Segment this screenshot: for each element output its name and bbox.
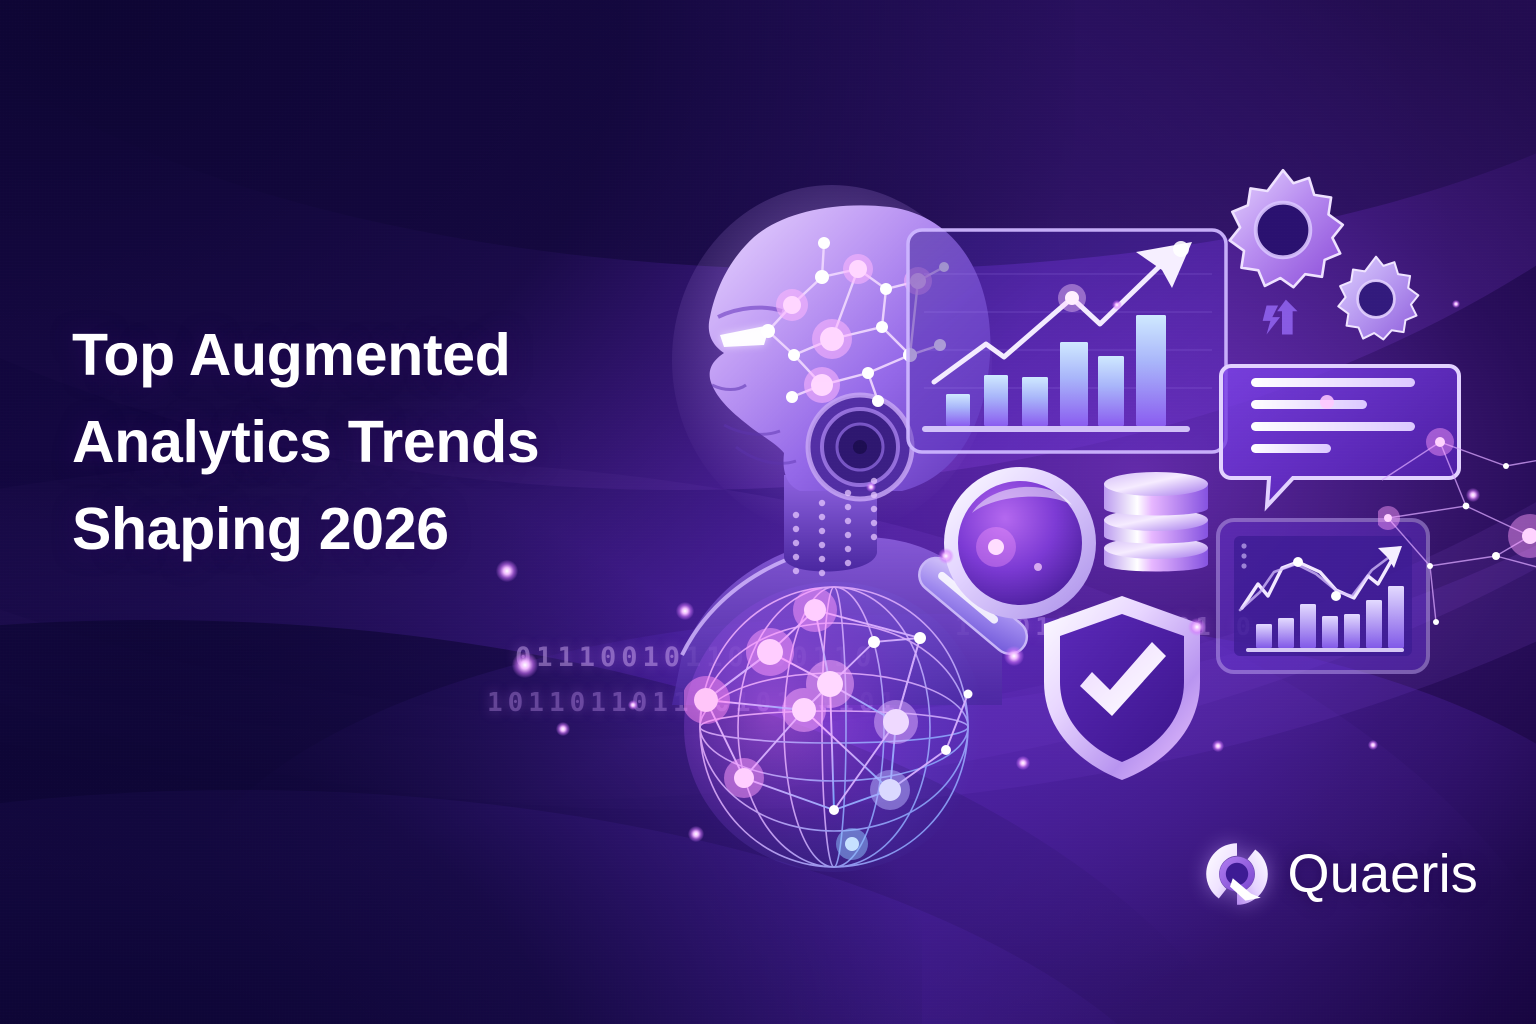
brand-logo[interactable]: Quaeris [1202,839,1478,909]
quaeris-q-logo-icon [1202,839,1272,909]
brand-name: Quaeris [1288,843,1478,905]
marketing-banner: 01110010110 00110 101101101100101 0101 1… [0,0,1536,1024]
page-title: Top Augmented Analytics Trends Shaping 2… [72,312,632,573]
